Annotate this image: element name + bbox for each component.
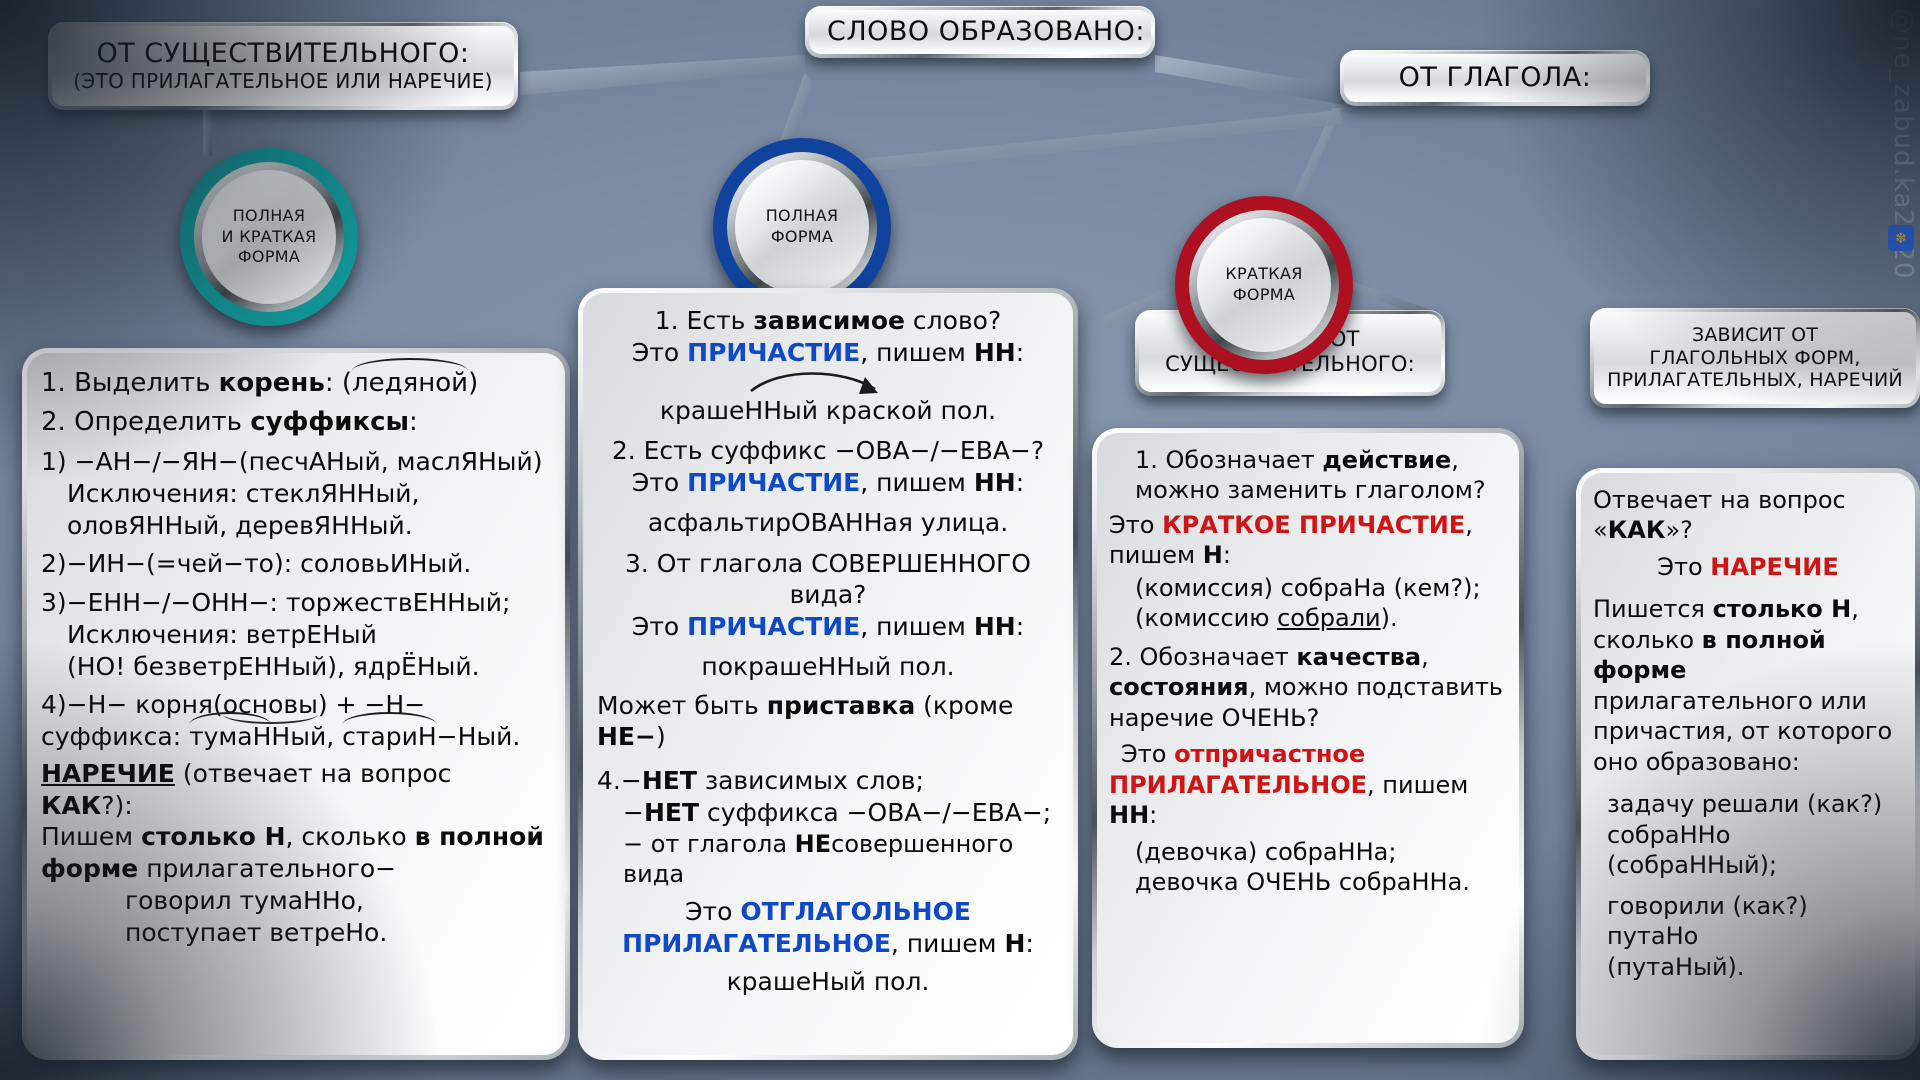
- header-from-verb[interactable]: ОТ ГЛАГОЛА:: [1340, 50, 1650, 106]
- noun-suffix-4: 4)−Н− корня(основы) + −Н−: [41, 689, 551, 721]
- dep-noun-example-4: девочка ОЧЕНЬ собраННа.: [1109, 867, 1507, 897]
- dep-noun-step-1: 1. Обозначает действие,: [1109, 445, 1507, 475]
- header-dep-verbforms-line1: ЗАВИСИТ ОТ: [1604, 324, 1906, 346]
- panel-full-form: 1. Есть зависимое слово? Это ПРИЧАСТИЕ, …: [578, 288, 1078, 1060]
- header-depends-on-verb-forms[interactable]: ЗАВИСИТ ОТ ГЛАГОЛЬНЫХ ФОРМ, ПРИЛАГАТЕЛЬН…: [1590, 308, 1920, 408]
- dep-vf-example-3: говорили (как?) путаНо: [1593, 891, 1903, 952]
- dep-noun-verdict-2a: Это отпричастное: [1109, 739, 1507, 769]
- full-example-4: крашеНый пол.: [597, 966, 1059, 998]
- noun-suffix-1-exc-a: Исключения: стеклЯННый,: [41, 478, 551, 510]
- header-from-noun-title: ОТ СУЩЕСТВИТЕЛЬНОГО:: [70, 38, 496, 69]
- noun-step-1: 1. Выделить корень: (ледяной): [41, 367, 551, 400]
- full-prefix-note: Может быть приставка (кроме НЕ−): [597, 690, 1059, 754]
- header-dep-verbforms-line2: ГЛАГОЛЬНЫХ ФОРМ,: [1604, 347, 1906, 369]
- dep-noun-example-1: (комиссия) собраНа (кем?);: [1109, 573, 1507, 603]
- starin-arc-marker: стариН: [342, 721, 437, 753]
- dep-vf-rule-4: причастия, от которого: [1593, 716, 1903, 746]
- infographic-canvas: ОТ СУЩЕСТВИТЕЛЬНОГО: (ЭТО ПРИЛАГАТЕЛЬНОЕ…: [0, 0, 1920, 1080]
- dep-noun-verdict-2b: ПРИЛАГАТЕЛЬНОЕ, пишем НН:: [1109, 770, 1507, 831]
- dep-vf-rule-2: сколько в полной форме: [1593, 625, 1903, 686]
- noun-adverb-rule: НАРЕЧИЕ (отвечает на вопрос КАК?):: [41, 758, 551, 822]
- dep-noun-example-2: (комиссию собрали).: [1109, 603, 1507, 633]
- full-step-4a: 4.−НЕТ зависимых слов;: [597, 765, 1059, 797]
- full-step-4b: −НЕТ суффикса −ОВА−/−ЕВА−;: [597, 797, 1059, 829]
- circle-full-line2: ФОРМА: [771, 227, 833, 248]
- tuman-arc-marker: тумаН: [189, 721, 271, 753]
- full-step-2-verdict: Это ПРИЧАСТИЕ, пишем НН:: [597, 467, 1059, 499]
- full-example-3: покрашеННый пол.: [597, 651, 1059, 683]
- panel-depends-on-verb-forms: Отвечает на вопрос «КАК»? Это НАРЕЧИЕ Пи…: [1576, 468, 1920, 1060]
- root-arc-marker: ледяной: [352, 367, 468, 400]
- full-verdict-adjective-1: Это ОТГЛАГОЛЬНОЕ: [597, 896, 1059, 928]
- full-step-2: 2. Есть суффикс −ОВА−/−ЕВА−?: [597, 435, 1059, 467]
- header-root[interactable]: СЛОВО ОБРАЗОВАНО:: [805, 6, 1155, 58]
- header-root-title: СЛОВО ОБРАЗОВАНО:: [827, 16, 1133, 47]
- full-example-1: крашеННый краской пол.: [597, 395, 1059, 427]
- header-from-verb-title: ОТ ГЛАГОЛА:: [1362, 62, 1628, 93]
- dep-vf-question-1: Отвечает на вопрос: [1593, 485, 1903, 515]
- dep-vf-example-2: собраННо (собраННый);: [1593, 820, 1903, 881]
- dep-noun-step-2-note: состояния, можно подставить: [1109, 672, 1507, 702]
- dep-noun-step-1-note: можно заменить глаголом?: [1109, 475, 1507, 505]
- circle-full-short-line2: И КРАТКАЯ: [222, 227, 317, 248]
- circle-full-short-line3: ФОРМА: [238, 247, 300, 268]
- dep-vf-example-1: задачу решали (как?): [1593, 789, 1903, 819]
- full-verdict-adjective-2: ПРИЛАГАТЕЛЬНОЕ, пишем Н:: [597, 928, 1059, 960]
- noun-suffix-3-exc-a: Исключения: ветрЕНый: [41, 619, 551, 651]
- full-step-4c: − от глагола НЕсовершенного вида: [597, 829, 1059, 890]
- noun-suffix-3-exc-b: (НО! безветрЕННый), ядрЁНый.: [41, 651, 551, 683]
- header-from-noun-subtitle: (ЭТО ПРИЛАГАТЕЛЬНОЕ ИЛИ НАРЕЧИЕ): [70, 69, 496, 93]
- full-step-1-verdict: Это ПРИЧАСТИЕ, пишем НН:: [597, 337, 1059, 369]
- dep-vf-rule-1: Пишется столько Н,: [1593, 594, 1903, 624]
- noun-example-2: поступает ветреНо.: [41, 917, 551, 949]
- dep-noun-example-3: (девочка) собраННа;: [1109, 837, 1507, 867]
- noun-suffix-1-exc-b: оловЯННый, деревЯННый.: [41, 510, 551, 542]
- header-from-noun[interactable]: ОТ СУЩЕСТВИТЕЛЬНОГО: (ЭТО ПРИЛАГАТЕЛЬНОЕ…: [48, 22, 518, 110]
- noun-suffix-2: 2)−ИН−(=чей−то): соловьИНый.: [41, 548, 551, 580]
- dep-vf-verdict: Это НАРЕЧИЕ: [1593, 552, 1903, 582]
- circle-short-form[interactable]: КРАТКАЯ ФОРМА: [1175, 196, 1353, 374]
- full-step-3-verdict: Это ПРИЧАСТИЕ, пишем НН:: [597, 611, 1059, 643]
- panel-from-noun: 1. Выделить корень: (ледяной) 2. Определ…: [22, 348, 570, 1060]
- header-dep-verbforms-line3: ПРИЛАГАТЕЛЬНЫХ, НАРЕЧИЙ: [1604, 369, 1906, 391]
- dep-noun-verdict-1: Это КРАТКОЕ ПРИЧАСТИЕ,: [1109, 510, 1507, 540]
- noun-suffix-4-examples: суффикса: тумаННый, стариН−Ный.: [41, 721, 551, 753]
- dep-noun-step-2-hint: наречие ОЧЕНЬ?: [1109, 703, 1507, 733]
- circle-short-line1: КРАТКАЯ: [1225, 264, 1302, 285]
- full-step-1: 1. Есть зависимое слово?: [597, 305, 1059, 337]
- dep-vf-rule-3: прилагательного или: [1593, 686, 1903, 716]
- full-example-2: асфальтирОВАННая улица.: [597, 507, 1059, 539]
- flower-icon: ❄: [1888, 225, 1914, 251]
- dep-noun-step-2: 2. Обозначает качества,: [1109, 642, 1507, 672]
- dep-vf-example-4: (путаНый).: [1593, 952, 1903, 982]
- noun-example-1: говорил тумаННо,: [41, 885, 551, 917]
- noun-step-2: 2. Определить суффиксы:: [41, 406, 551, 439]
- noun-suffix-1: 1) −АН−/−ЯН−(песчАНый, маслЯНый): [41, 446, 551, 478]
- noun-suffix-3: 3)−ЕНН−/−ОНН−: торжествЕННый;: [41, 587, 551, 619]
- dep-vf-question-2: «КАК»?: [1593, 515, 1903, 545]
- circle-full-line1: ПОЛНАЯ: [766, 206, 839, 227]
- circle-full-short-line1: ПОЛНАЯ: [233, 206, 306, 227]
- dep-vf-rule-5: оно образовано:: [1593, 747, 1903, 777]
- dep-noun-spelling-1: пишем Н:: [1109, 540, 1507, 570]
- noun-adverb-rule-2: Пишем столько Н, сколько в полной: [41, 821, 551, 853]
- noun-adverb-rule-3: форме прилагательного−: [41, 853, 551, 885]
- circle-full-and-short-form[interactable]: ПОЛНАЯ И КРАТКАЯ ФОРМА: [180, 148, 358, 326]
- panel-depends-on-noun: 1. Обозначает действие, можно заменить г…: [1092, 428, 1524, 1048]
- circle-short-line2: ФОРМА: [1233, 285, 1295, 306]
- full-step-3: 3. От глагола СОВЕРШЕННОГО вида?: [597, 548, 1059, 612]
